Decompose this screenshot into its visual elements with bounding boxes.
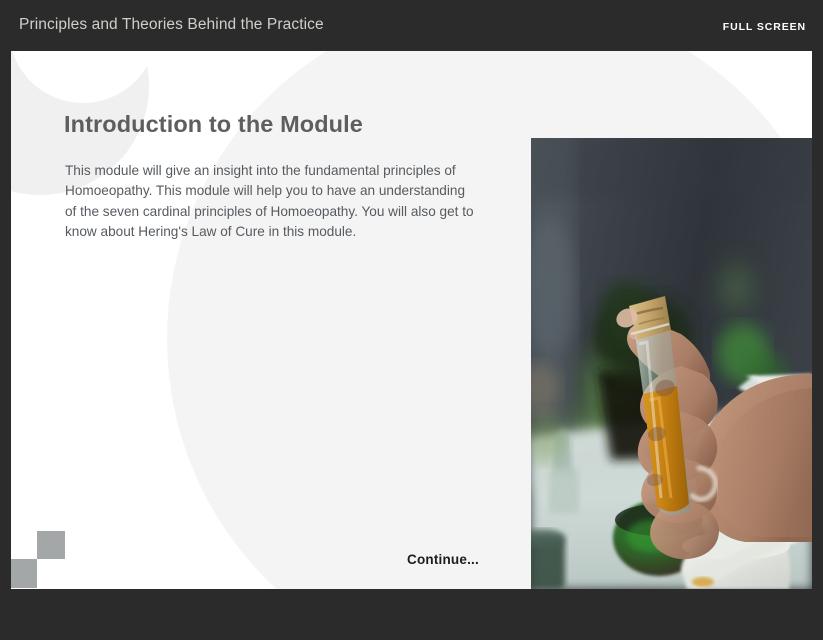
course-player: Principles and Theories Behind the Pract… bbox=[0, 0, 823, 640]
top-bar: Principles and Theories Behind the Pract… bbox=[0, 0, 823, 51]
decorative-square-lower bbox=[11, 559, 37, 588]
continue-button[interactable]: Continue... bbox=[407, 552, 479, 567]
slide-photo bbox=[531, 138, 812, 589]
slide-body-text: This module will give an insight into th… bbox=[65, 161, 477, 242]
slide-stage: Introduction to the Module This module w… bbox=[11, 51, 812, 589]
fullscreen-button[interactable]: FULL SCREEN bbox=[723, 21, 806, 33]
slide-heading: Introduction to the Module bbox=[64, 111, 363, 138]
player-control-bar bbox=[0, 589, 823, 640]
page-title: Principles and Theories Behind the Pract… bbox=[19, 16, 324, 34]
decorative-square-upper bbox=[37, 531, 65, 559]
